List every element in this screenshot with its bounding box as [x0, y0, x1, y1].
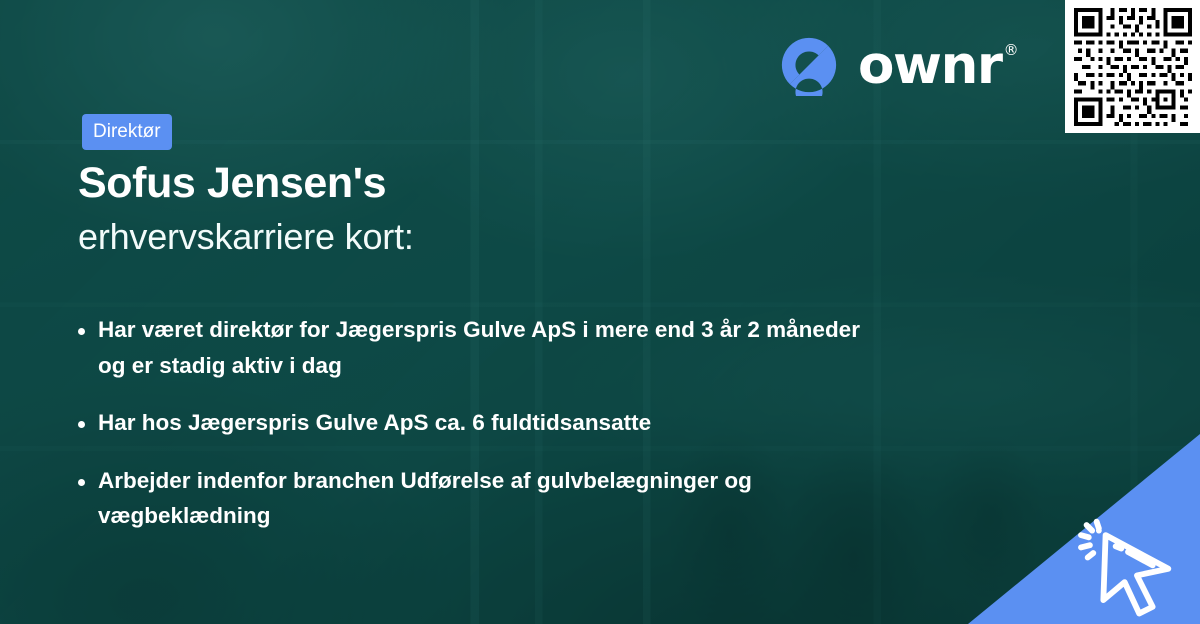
- ownr-logo[interactable]: ownr ®: [778, 34, 1017, 96]
- list-item: Har været direktør for Jægerspris Gulve …: [78, 312, 868, 383]
- bullet-dot-icon: [78, 479, 85, 486]
- facts-list: Har været direktør for Jægerspris Gulve …: [78, 312, 868, 534]
- click-cursor-icon: [1072, 506, 1184, 618]
- page-title: Sofus Jensen's erhvervskarriere kort:: [78, 158, 958, 259]
- ownr-wordmark: ownr ®: [858, 39, 1017, 92]
- role-badge: Direktør: [82, 114, 172, 150]
- wordmark-text: ownr: [858, 39, 1002, 92]
- list-item-text: Har hos Jægerspris Gulve ApS ca. 6 fuldt…: [98, 405, 868, 441]
- business-card-image: ownr ®: [0, 0, 1200, 624]
- list-item-text: Arbejder indenfor branchen Udførelse af …: [98, 463, 868, 534]
- bullet-dot-icon: [78, 421, 85, 428]
- list-item-text: Har været direktør for Jægerspris Gulve …: [98, 312, 868, 383]
- title-subline: erhvervskarriere kort:: [78, 215, 958, 260]
- list-item: Har hos Jægerspris Gulve ApS ca. 6 fuldt…: [78, 405, 868, 441]
- registered-trademark-icon: ®: [1004, 43, 1018, 58]
- ownr-logo-mark: [778, 34, 840, 96]
- person-name: Sofus Jensen's: [78, 158, 958, 209]
- list-item: Arbejder indenfor branchen Udførelse af …: [78, 463, 868, 534]
- qr-code-panel[interactable]: [1065, 0, 1200, 133]
- bullet-dot-icon: [78, 328, 85, 335]
- qr-code[interactable]: [1074, 8, 1192, 126]
